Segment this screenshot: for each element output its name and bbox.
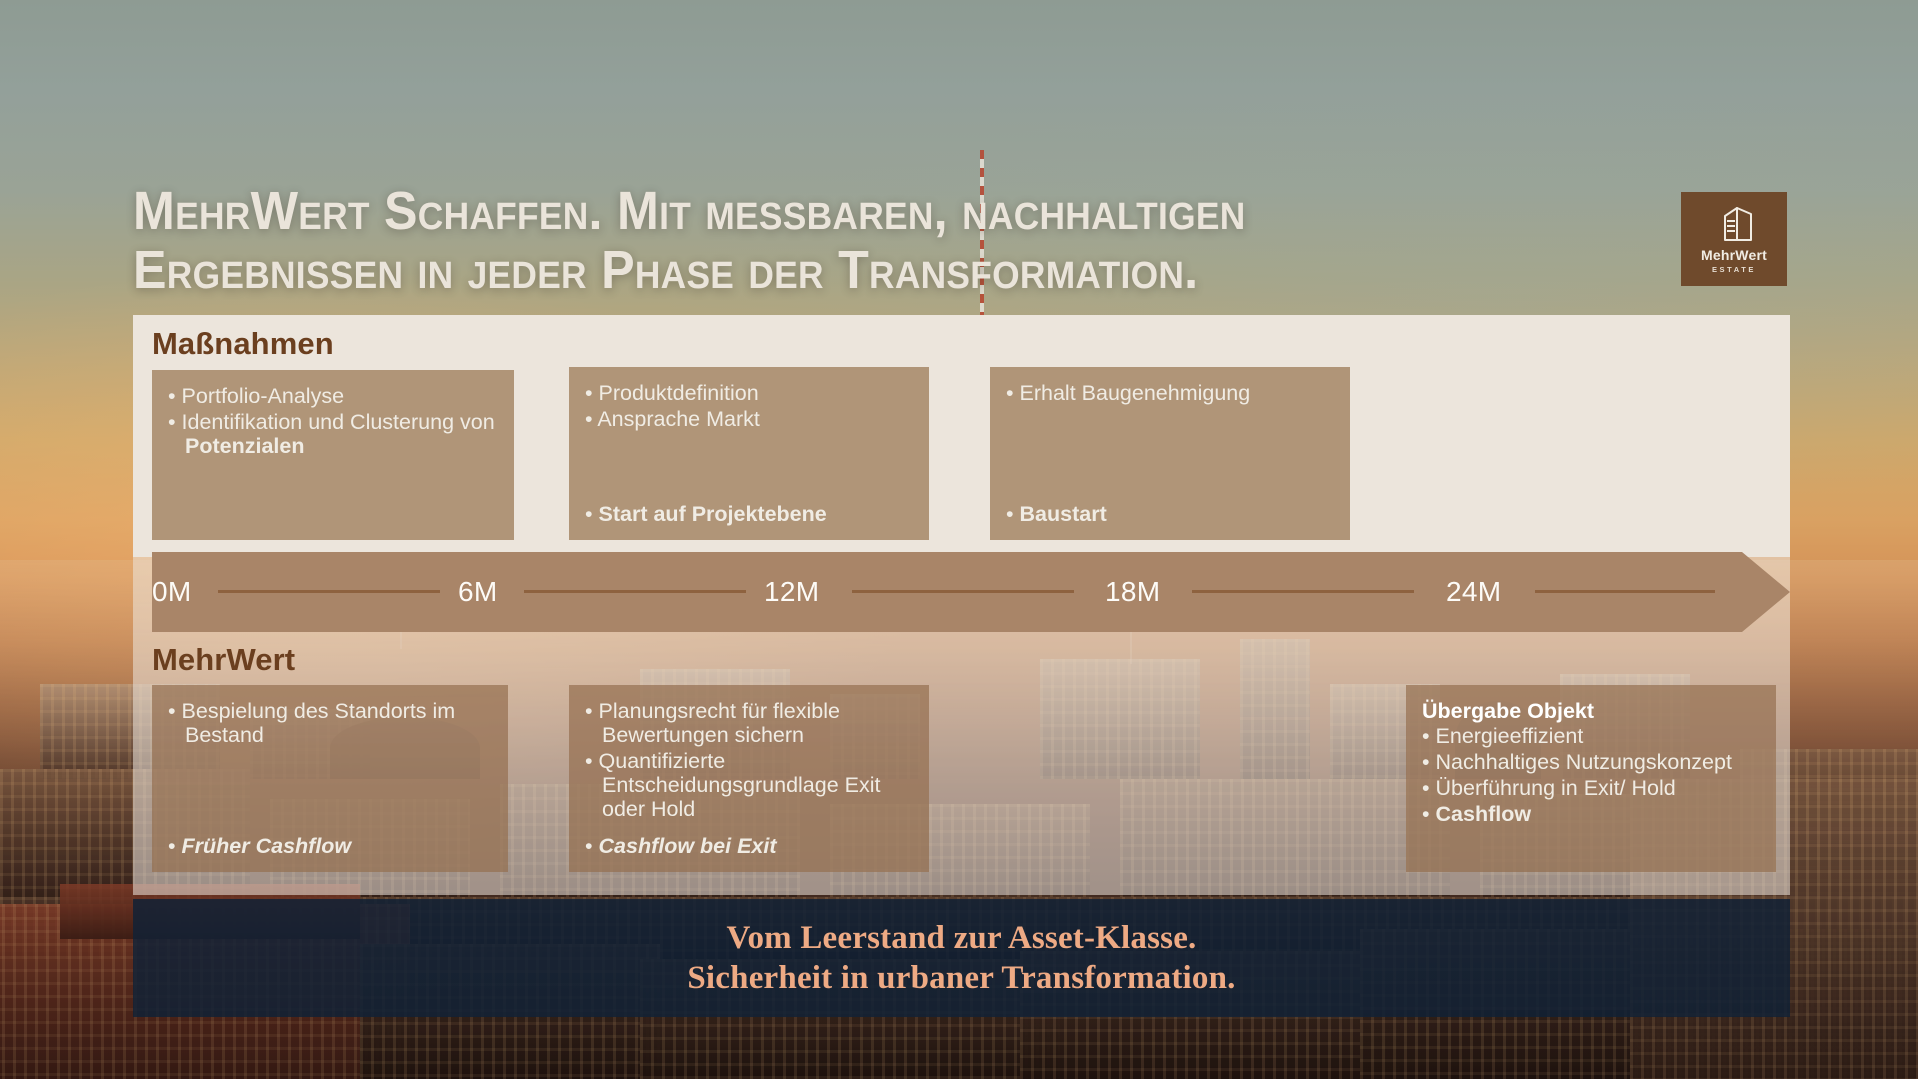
list-item-text: Identifikation und Clusterung von <box>182 410 495 434</box>
measure-card-1[interactable]: Portfolio-Analyse Identifikation und Clu… <box>152 370 514 540</box>
list-item: Überführung in Exit/ Hold <box>1422 776 1760 800</box>
tagline-banner: Vom Leerstand zur Asset-Klasse. Sicherhe… <box>133 899 1790 1017</box>
card-highlight: Start auf Projektebene <box>585 502 913 526</box>
card-header: Übergabe Objekt <box>1422 699 1760 723</box>
value-card-2[interactable]: Planungsrecht für flexible Bewertungen s… <box>569 685 929 872</box>
timeline-marker-1: 6M <box>458 552 498 632</box>
timeline-marker-0: 0M <box>152 552 192 632</box>
value-card-1[interactable]: Bespielung des Standorts im Bestand Früh… <box>152 685 508 872</box>
list-item: Portfolio-Analyse <box>168 384 498 408</box>
timeline-label: 6M <box>458 576 498 608</box>
list-item: Bespielung des Standorts im Bestand <box>168 699 492 747</box>
tagline-line-1: Vom Leerstand zur Asset-Klasse. <box>726 918 1196 958</box>
measure-card-3[interactable]: Erhalt Baugenehmigung Baustart <box>990 367 1350 540</box>
building-icon <box>1713 204 1755 244</box>
card-highlight-text: Cashflow <box>1436 802 1532 826</box>
list-item: Identifikation und Clusterung von Potenz… <box>168 410 498 458</box>
timeline-dash <box>524 590 746 593</box>
tagline-line-2: Sicherheit in urbaner Transformation. <box>687 958 1235 998</box>
value-card-3[interactable]: Übergabe Objekt Energieeffizient Nachhal… <box>1406 685 1776 872</box>
logo-name: MehrWert <box>1701 248 1767 262</box>
card-highlight-text: Baustart <box>1020 502 1107 526</box>
title-line-1: MehrWert Schaffen. Mit messbaren, nachha… <box>133 181 1246 241</box>
timeline-label: 24M <box>1446 576 1501 608</box>
list-item: Nachhaltiges Nutzungskonzept <box>1422 750 1760 774</box>
timeline-arrow[interactable]: 0M 6M 12M 18M 24M <box>152 552 1790 632</box>
timeline-dash <box>218 590 440 593</box>
card-highlight: Früher Cashflow <box>168 834 492 858</box>
timeline-label: 0M <box>152 576 192 608</box>
list-item: Quantifizierte Entscheidungsgrundlage Ex… <box>585 749 913 821</box>
timeline-dash <box>852 590 1074 593</box>
timeline-marker-2: 12M <box>764 552 819 632</box>
list-item: Ansprache Markt <box>585 407 913 431</box>
card-highlight: Baustart <box>1006 502 1334 526</box>
list-item: Produktdefinition <box>585 381 913 405</box>
list-item: Erhalt Baugenehmigung <box>1006 381 1334 405</box>
section-heading-mehrwert: MehrWert <box>152 642 295 678</box>
title-line-2: Ergebnissen in jeder Phase der Transform… <box>133 240 1198 300</box>
logo-subtitle: ESTATE <box>1712 266 1756 274</box>
timeline-dash <box>1535 590 1715 593</box>
list-item-bold: Potenzialen <box>185 434 304 458</box>
section-heading-massnahmen: Maßnahmen <box>152 326 334 362</box>
timeline-marker-3: 18M <box>1105 552 1160 632</box>
card-highlight-text: Früher Cashflow <box>182 834 352 858</box>
timeline-dash <box>1192 590 1414 593</box>
slide-content: MehrWert Schaffen. Mit messbaren, nachha… <box>0 0 1918 1079</box>
card-highlight: Cashflow <box>1422 802 1760 826</box>
measure-card-2[interactable]: Produktdefinition Ansprache Markt Start … <box>569 367 929 540</box>
timeline-label: 12M <box>764 576 819 608</box>
list-item: Planungsrecht für flexible Bewertungen s… <box>585 699 913 747</box>
card-highlight-text: Start auf Projektebene <box>599 502 827 526</box>
card-highlight: Cashflow bei Exit <box>585 834 913 858</box>
page-title: MehrWert Schaffen. Mit messbaren, nachha… <box>133 182 1547 301</box>
timeline-label: 18M <box>1105 576 1160 608</box>
timeline-marker-4: 24M <box>1446 552 1501 632</box>
brand-logo[interactable]: MehrWert ESTATE <box>1681 192 1787 286</box>
card-highlight-text: Cashflow bei Exit <box>599 834 777 858</box>
list-item: Energieeffizient <box>1422 724 1760 748</box>
